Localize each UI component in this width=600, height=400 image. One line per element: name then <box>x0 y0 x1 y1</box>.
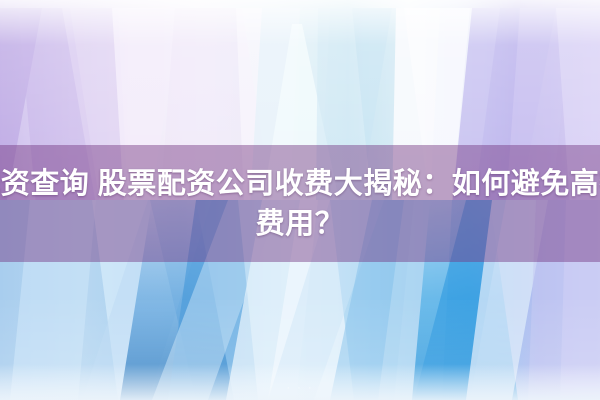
banner-title-line-1: 配资查询 股票配资公司收费大揭秘：如何避免高额 <box>0 164 600 204</box>
title-banner-overlay: 配资查询 股票配资公司收费大揭秘：如何避免高额 费用？ <box>0 145 600 262</box>
promo-banner: 配资查询 股票配资公司收费大揭秘：如何避免高额 费用？ · · · <box>0 0 600 400</box>
bottom-watermark: · · · <box>0 382 600 394</box>
banner-title-line-2: 费用？ <box>256 204 345 244</box>
